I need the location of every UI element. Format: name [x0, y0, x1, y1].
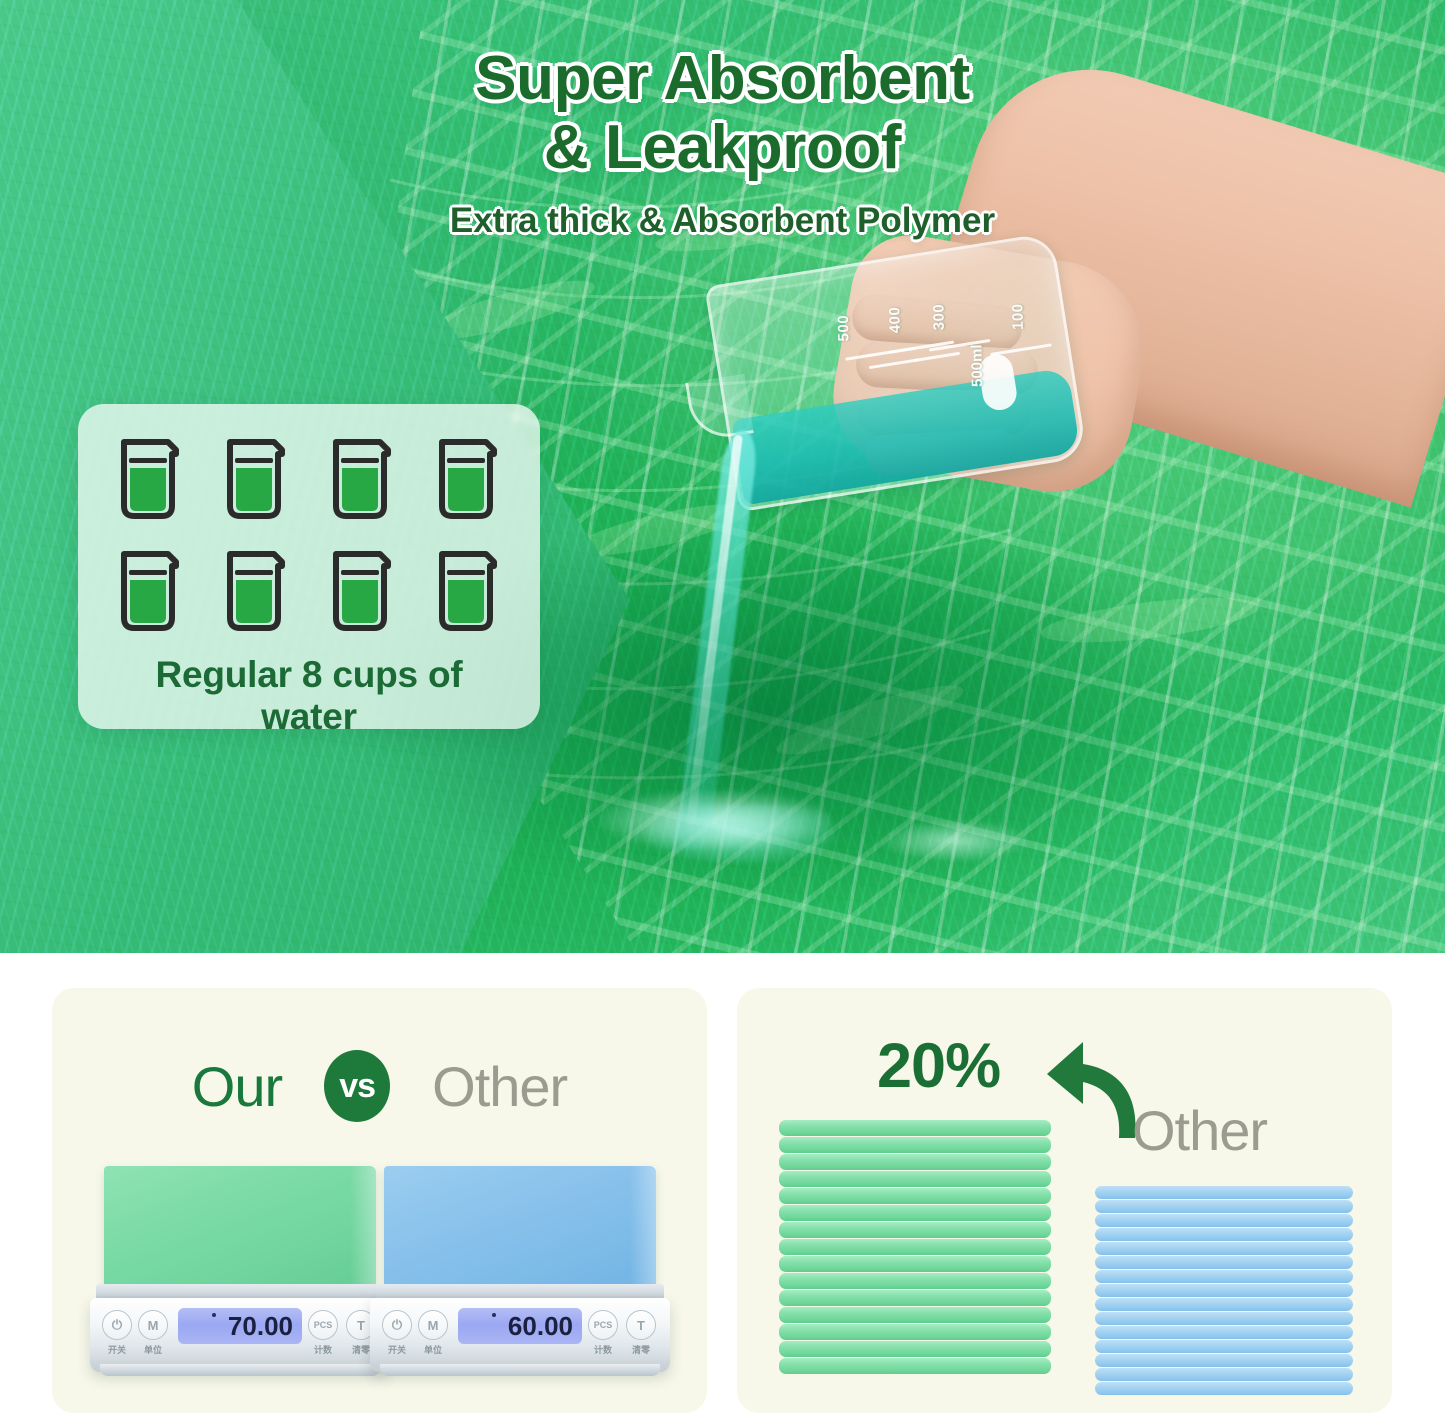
scale-other: ⏻ M 60.00 PCS T 开关 单位 计数 清零 [370, 1166, 670, 1396]
hero-section: 500 400 300 100 500ml Super Absorbent & … [0, 0, 1445, 953]
pad-layer [779, 1222, 1051, 1238]
curved-arrow-icon [1039, 1034, 1143, 1146]
pad-layer [1095, 1256, 1353, 1269]
pad-layer [779, 1290, 1051, 1306]
pad-layer [1095, 1326, 1353, 1339]
pad-layer [779, 1324, 1051, 1340]
stack-our-green [779, 1120, 1051, 1375]
scale-foot [100, 1364, 380, 1376]
scale-base: ⏻ M 70.00 PCS T 开关 单位 计数 清零 [90, 1298, 390, 1372]
tare-button-cn-label: 清零 [624, 1343, 658, 1356]
percent-label: 20% [877, 1030, 1000, 1102]
beaker-cup-icon [220, 432, 292, 524]
pad-layer [1095, 1270, 1353, 1283]
pad-layer [779, 1188, 1051, 1204]
beaker-cup-icon [220, 544, 292, 636]
scale-display-our: 70.00 [178, 1308, 302, 1344]
pad-layer [1095, 1214, 1353, 1227]
pad-layer [1095, 1382, 1353, 1395]
pad-layer [779, 1273, 1051, 1289]
count-button-cn-label: 计数 [306, 1343, 340, 1356]
pad-layer [779, 1307, 1051, 1323]
pad-layer [779, 1239, 1051, 1255]
count-button-cn-label: 计数 [586, 1343, 620, 1356]
pad-layer [779, 1171, 1051, 1187]
scale-base: ⏻ M 60.00 PCS T 开关 单位 计数 清零 [370, 1298, 670, 1372]
vs-badge: vs [324, 1050, 390, 1122]
pad-layer [1095, 1368, 1353, 1381]
scale-value-other: 60.00 [508, 1311, 573, 1342]
power-button-cn-label: 开关 [100, 1343, 134, 1356]
weight-comparison-panel: Our vs Other ⏻ M 70.00 PCS T 开关 [52, 988, 707, 1413]
pad-layer [1095, 1340, 1353, 1353]
beaker-cup-icon [114, 544, 186, 636]
badge-caption: Regular 8 cups of water [104, 654, 514, 738]
water-capacity-badge: Regular 8 cups of water [78, 404, 540, 729]
unit-button-cn-label: 单位 [136, 1343, 170, 1356]
pad-other-blue [384, 1166, 656, 1290]
pad-layer [1095, 1354, 1353, 1367]
graduation-label-300: 300 [930, 304, 947, 331]
scale-foot [380, 1364, 660, 1376]
pad-our-green [104, 1166, 376, 1290]
beaker-cup-icon [432, 432, 504, 524]
beaker-cup-icon [326, 544, 398, 636]
lcd-indicator-dot [212, 1313, 216, 1317]
bottom-panels: Our vs Other ⏻ M 70.00 PCS T 开关 [0, 953, 1445, 1413]
beaker-cup-icon [432, 544, 504, 636]
tare-button[interactable]: T [626, 1310, 656, 1340]
pad-layer [1095, 1186, 1353, 1199]
comparison-header: Our vs Other [52, 1050, 707, 1122]
unit-button[interactable]: M [418, 1310, 448, 1340]
thickness-comparison-panel: 20% Other [737, 988, 1392, 1413]
pad-layer [1095, 1228, 1353, 1241]
pad-layer [779, 1256, 1051, 1272]
water-splash [645, 805, 835, 863]
pad-layer [779, 1205, 1051, 1221]
other-label: Other [432, 1054, 567, 1119]
beaker-cup-icon [326, 432, 398, 524]
count-button[interactable]: PCS [308, 1310, 338, 1340]
pad-layer [1095, 1284, 1353, 1297]
other-label-thickness: Other [1132, 1098, 1267, 1163]
pad-layer [779, 1154, 1051, 1170]
beaker-cup-icon [114, 432, 186, 524]
graduation-label-500: 500 [835, 315, 852, 342]
foam-bubbles-right [880, 820, 1030, 862]
pad-layer [1095, 1298, 1353, 1311]
power-button[interactable]: ⏻ [382, 1310, 412, 1340]
graduation-label-100: 100 [1009, 303, 1026, 330]
power-button-cn-label: 开关 [380, 1343, 414, 1356]
lcd-indicator-dot [492, 1313, 496, 1317]
scale-value-our: 70.00 [228, 1311, 293, 1342]
our-label: Our [192, 1054, 282, 1119]
pad-layer [1095, 1312, 1353, 1325]
pad-layer [779, 1341, 1051, 1357]
count-button[interactable]: PCS [588, 1310, 618, 1340]
unit-button[interactable]: M [138, 1310, 168, 1340]
scale-our: ⏻ M 70.00 PCS T 开关 单位 计数 清零 [90, 1166, 390, 1396]
unit-button-cn-label: 单位 [416, 1343, 450, 1356]
stack-other-blue [1095, 1186, 1353, 1396]
graduation-label-400: 400 [886, 307, 903, 334]
pad-layer [1095, 1200, 1353, 1213]
beaker-icon-grid [104, 432, 514, 636]
pad-layer [779, 1120, 1051, 1136]
pad-layer [1095, 1242, 1353, 1255]
beaker-volume-label: 500ml [968, 344, 986, 387]
power-button[interactable]: ⏻ [102, 1310, 132, 1340]
product-infographic-page: 500 400 300 100 500ml Super Absorbent & … [0, 0, 1445, 1413]
pad-layer [779, 1137, 1051, 1153]
pad-layer [779, 1358, 1051, 1374]
scale-display-other: 60.00 [458, 1308, 582, 1344]
